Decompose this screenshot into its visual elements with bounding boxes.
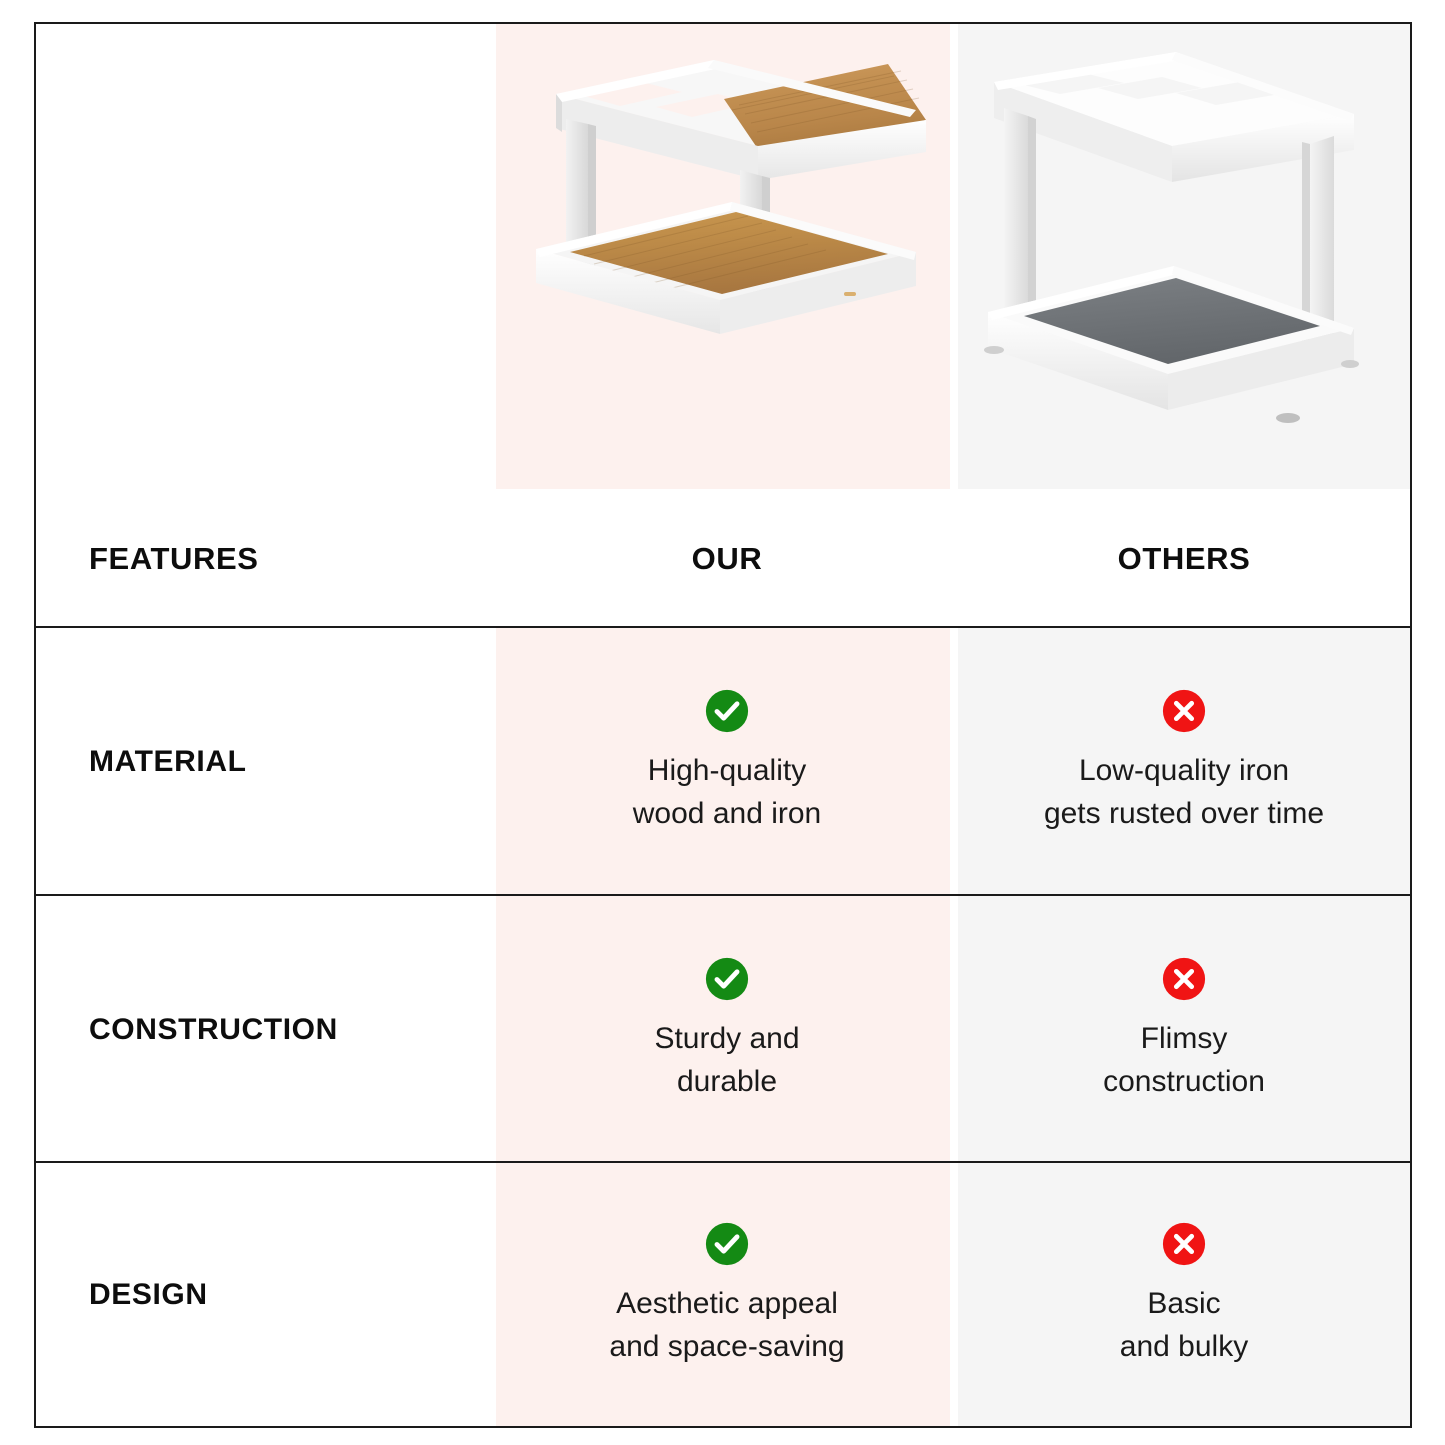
others-cell-design: Basic and bulky xyxy=(958,1164,1410,1426)
header-label-others: OTHERS xyxy=(1118,541,1251,577)
cell-text: High-quality wood and iron xyxy=(633,750,821,835)
header-label-features: FEATURES xyxy=(89,541,259,577)
cell-text: Sturdy and durable xyxy=(654,1018,799,1103)
table-header-row: FEATURES OUR OTHERS xyxy=(36,489,1410,628)
header-cell-others: OTHERS xyxy=(958,489,1410,628)
cell-text: Low-quality iron gets rusted over time xyxy=(1044,750,1324,835)
row-divider-construction xyxy=(36,1161,1410,1163)
table-row: CONSTRUCTION Sturdy and durable Flimsy c… xyxy=(36,897,1410,1162)
feature-cell-material: MATERIAL xyxy=(36,628,496,895)
feature-cell-design: DESIGN xyxy=(36,1164,496,1426)
image-band-empty-cell xyxy=(36,24,496,489)
header-label-our: OUR xyxy=(692,541,763,577)
cross-circle-icon xyxy=(1161,1221,1207,1267)
check-circle-icon xyxy=(704,688,750,734)
cell-text: Flimsy construction xyxy=(1103,1018,1265,1103)
our-cell-construction: Sturdy and durable xyxy=(496,897,958,1162)
check-circle-icon xyxy=(704,1221,750,1267)
comparison-table: FEATURES OUR OTHERS MATERIAL High-qualit… xyxy=(34,22,1412,1428)
others-shelf-illustration xyxy=(958,24,1410,489)
cell-text: Basic and bulky xyxy=(1120,1283,1248,1368)
check-circle-icon xyxy=(704,956,750,1002)
cross-circle-icon xyxy=(1161,956,1207,1002)
cross-circle-icon xyxy=(1161,688,1207,734)
table-row: MATERIAL High-quality wood and iron Low-… xyxy=(36,628,1410,895)
others-cell-construction: Flimsy construction xyxy=(958,897,1410,1162)
feature-label: DESIGN xyxy=(89,1278,208,1312)
our-product-stage xyxy=(496,24,958,489)
feature-label: MATERIAL xyxy=(89,745,247,779)
feature-label: CONSTRUCTION xyxy=(89,1013,338,1047)
our-product-image-cell xyxy=(496,24,958,489)
our-cell-material: High-quality wood and iron xyxy=(496,628,958,895)
header-cell-features: FEATURES xyxy=(36,489,496,628)
others-cell-material: Low-quality iron gets rusted over time xyxy=(958,628,1410,895)
others-product-stage xyxy=(958,24,1410,489)
row-divider-material xyxy=(36,894,1410,896)
table-row: DESIGN Aesthetic appeal and space-saving… xyxy=(36,1164,1410,1426)
our-cell-design: Aesthetic appeal and space-saving xyxy=(496,1164,958,1426)
product-image-band xyxy=(36,24,1410,489)
our-shelf-illustration xyxy=(496,24,958,489)
cell-text: Aesthetic appeal and space-saving xyxy=(609,1283,844,1368)
others-product-image-cell xyxy=(958,24,1410,489)
feature-cell-construction: CONSTRUCTION xyxy=(36,897,496,1162)
header-cell-our: OUR xyxy=(496,489,958,628)
